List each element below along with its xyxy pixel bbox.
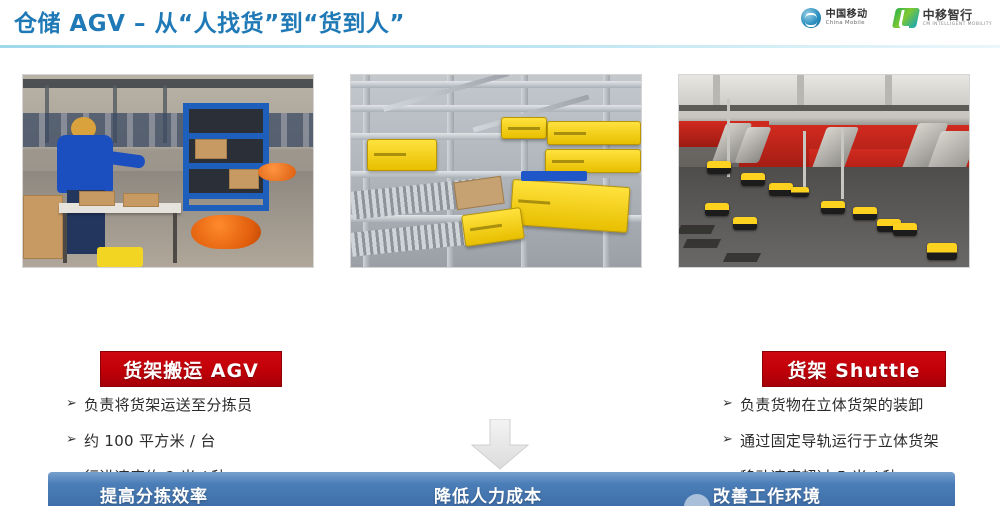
rack-upright	[263, 103, 269, 211]
sorting-floor	[679, 167, 969, 267]
sorting-agv-robot	[705, 203, 729, 216]
ceiling-beam	[23, 79, 313, 88]
secondary-agv-robot	[258, 163, 296, 181]
list-item-label: 通过固定导轨运行于立体货架	[740, 430, 939, 453]
orange-agv-robot	[191, 215, 261, 249]
banner-shelf-shuttle: 货架 Shuttle	[762, 351, 946, 387]
down-arrow-icon	[468, 419, 532, 471]
rack-shelf	[183, 193, 269, 199]
rack-carton	[229, 169, 259, 189]
rack-rail	[351, 81, 641, 88]
arrow-bullet-icon: ➢	[66, 394, 84, 414]
list-item: ➢ 约 100 平方米 / 台	[66, 430, 366, 453]
china-mobile-logo: 中国移动 China Mobile	[801, 8, 868, 28]
photo-shelf-shuttle	[350, 74, 642, 268]
arrow-bullet-icon: ➢	[66, 430, 84, 450]
sorting-agv-robot	[741, 173, 765, 186]
list-item-label: 约 100 平方米 / 台	[84, 430, 216, 453]
yellow-bin	[97, 247, 143, 267]
guide-pole	[841, 127, 844, 199]
column-parcel-sorting-agv: 包裹分拣 AGV ➢ 负责将货物运送至指定投递窗口及投递 ➢ 1000 平米最多…	[678, 74, 968, 268]
bar-circle-decoration	[684, 494, 710, 506]
rack-upright	[183, 103, 189, 211]
sorting-agv-robot	[893, 223, 917, 236]
china-mobile-name-en: China Mobile	[826, 21, 868, 27]
list-item-label: 负责将货架运送至分拣员	[84, 394, 252, 417]
shuttle-robot	[547, 121, 641, 145]
table-carton	[79, 191, 115, 206]
benefit-item-2: 降低人力成本	[434, 482, 542, 506]
logo-group: 中国移动 China Mobile 中移智行 CM INTELLIGENT MO…	[801, 8, 992, 28]
rack-shelf	[183, 103, 269, 109]
rack-bay	[189, 109, 263, 133]
floor-mat	[683, 239, 721, 248]
arrow-bullet-icon: ➢	[722, 430, 740, 450]
shuttle-robot	[501, 117, 547, 139]
table-carton	[123, 193, 159, 207]
sorting-agv-robot	[821, 201, 845, 214]
column-shelf-transport-agv: 货架搬运 AGV ➢ 负责将货架运送至分拣员 ➢ 约 100 平方米 / 台 ➢…	[22, 74, 312, 268]
sorting-agv-robot	[707, 161, 731, 174]
banner-shelf-transport-agv: 货架搬运 AGV	[100, 351, 282, 387]
table-leg	[173, 213, 177, 263]
rack-shelf	[183, 205, 269, 211]
work-table	[59, 203, 181, 213]
sorting-agv-robot	[733, 217, 757, 230]
cmiot-zhixing-name-cn: 中移智行	[923, 9, 992, 21]
sorting-agv-robot	[927, 243, 957, 260]
photo-parcel-sorting-agv	[678, 74, 970, 268]
list-item: ➢ 通过固定导轨运行于立体货架	[722, 430, 1000, 453]
benefits-bar: 提高分拣效率 降低人力成本 改善工作环境	[48, 472, 955, 506]
carton-on-conveyor	[453, 176, 504, 210]
column-shelf-shuttle: 货架 Shuttle ➢ 负责货物在立体货架的装卸 ➢ 通过固定导轨运行于立体货…	[350, 74, 640, 268]
page-title: 仓储 AGV – 从“人找货”到“货到人”	[14, 4, 405, 38]
rack-carton	[195, 139, 227, 159]
china-mobile-mark-icon	[801, 8, 821, 28]
list-item: ➢ 负责将货架运送至分拣员	[66, 394, 366, 417]
shuttle-robot	[545, 149, 641, 173]
floor-mat	[723, 253, 761, 262]
china-mobile-name-cn: 中国移动	[826, 10, 868, 20]
blue-rack	[183, 103, 269, 211]
benefit-item-3: 改善工作环境	[713, 482, 821, 506]
slide: 仓储 AGV – 从“人找货”到“货到人” 中国移动 China Mobile …	[0, 0, 1000, 506]
shuttle-robot	[367, 139, 437, 171]
sorting-agv-robot	[769, 183, 793, 196]
cmiot-zhixing-name-en: CM INTELLIGENT MOBILITY	[923, 23, 992, 28]
table-leg	[63, 213, 67, 263]
sorting-agv-robot	[791, 187, 809, 197]
cmiot-zhixing-logo: 中移智行 CM INTELLIGENT MOBILITY	[894, 8, 992, 28]
sorting-agv-robot	[853, 207, 877, 220]
shuttle-robot	[510, 179, 631, 233]
cardboard-box	[23, 195, 63, 259]
title-divider	[0, 45, 1000, 48]
ceiling	[679, 75, 969, 105]
benefit-item-1: 提高分拣效率	[100, 482, 208, 506]
arrow-bullet-icon: ➢	[722, 394, 740, 414]
list-item-label: 负责货物在立体货架的装卸	[740, 394, 924, 417]
list-item: ➢ 负责货物在立体货架的装卸	[722, 394, 1000, 417]
floor-mat	[678, 225, 715, 234]
ceiling-beam	[679, 105, 969, 111]
cmiot-zhixing-mark-icon	[892, 8, 920, 28]
worker-torso	[57, 135, 113, 193]
blue-tote	[521, 171, 587, 181]
shuttle-robot	[461, 207, 525, 247]
photo-shelf-transport-agv	[22, 74, 314, 268]
